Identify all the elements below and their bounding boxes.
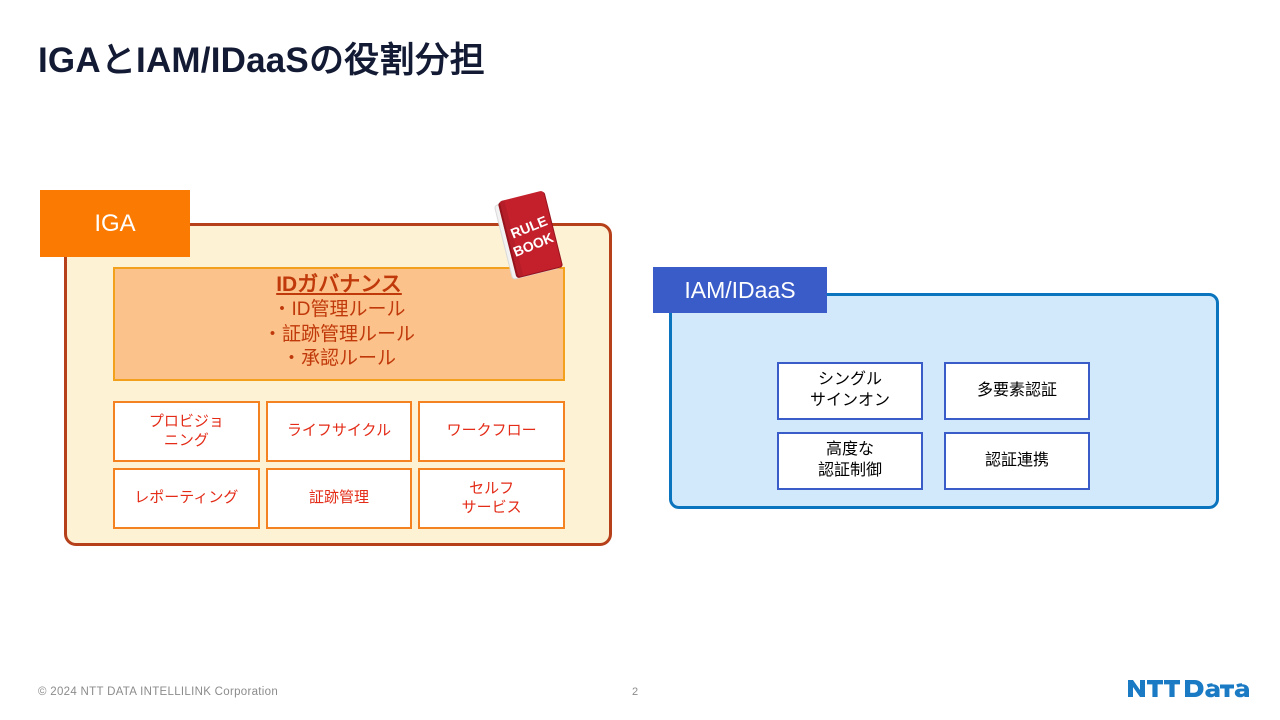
iga-feature-workflow: ワークフロー [418, 401, 565, 462]
rule-book-icon: RULE BOOK [489, 190, 571, 285]
footer-copyright: © 2024 NTT DATA INTELLILINK Corporation [38, 686, 278, 698]
id-governance-rule-1: ・ID管理ルール [115, 298, 563, 322]
page-title: IGAとIAM/IDaaSの役割分担 [38, 32, 485, 83]
iam-idaas-tab-text: IAM/IDaaS [684, 277, 795, 304]
ntt-data-logo [1128, 676, 1256, 702]
iga-feature-reporting: レポーティング [113, 468, 260, 529]
iga-feature-lifecycle: ライフサイクル [266, 401, 413, 462]
footer-page-number: 2 [632, 686, 638, 698]
iam-feature-auth-federation: 認証連携 [944, 432, 1090, 490]
iga-tab-text: IGA [94, 210, 135, 238]
iam-idaas-tab-label: IAM/IDaaS [653, 267, 827, 313]
iga-feature-self-service: セルフ サービス [418, 468, 565, 529]
id-governance-rule-3: ・承認ルール [115, 347, 563, 371]
iam-feature-grid: シングル サインオン 多要素認証 高度な 認証制御 認証連携 [777, 362, 1090, 490]
iga-feature-audit-trail: 証跡管理 [266, 468, 413, 529]
iam-feature-mfa: 多要素認証 [944, 362, 1090, 420]
iam-feature-single-sign-on: シングル サインオン [777, 362, 923, 420]
iga-feature-provisioning: プロビジョ ニング [113, 401, 260, 462]
iam-feature-advanced-auth-control: 高度な 認証制御 [777, 432, 923, 490]
iga-tab-label: IGA [40, 190, 190, 257]
iga-feature-grid: プロビジョ ニング ライフサイクル ワークフロー レポーティング 証跡管理 セル… [113, 401, 565, 529]
id-governance-rule-2: ・証跡管理ルール [115, 323, 563, 347]
